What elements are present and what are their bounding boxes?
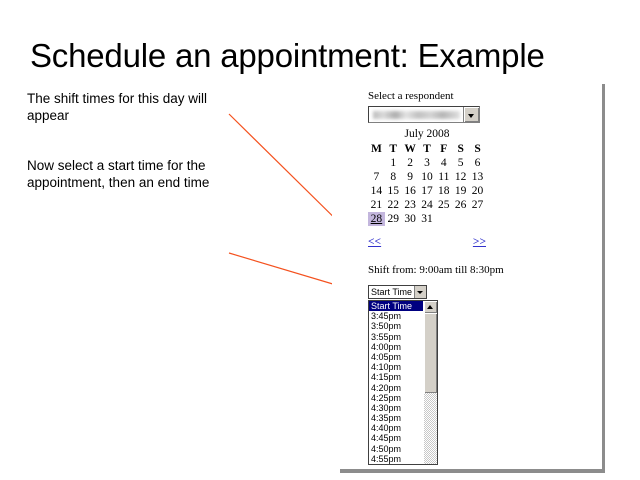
shift-hours-text: Shift from: 9:00am till 8:30pm	[368, 264, 504, 276]
start-time-option[interactable]: 4:30pm	[369, 403, 423, 413]
start-time-option[interactable]: 4:25pm	[369, 393, 423, 403]
calendar-day[interactable]: 2	[402, 156, 419, 170]
calendar-day-selected[interactable]: 28	[368, 212, 385, 226]
start-time-listbox[interactable]: Start Time3:45pm3:50pm3:55pm4:00pm4:05pm…	[368, 300, 438, 465]
calendar-week-row: 14151617181920	[368, 184, 486, 198]
calendar-body: 1234567891011121314151617181920212223242…	[368, 156, 486, 226]
start-time-option[interactable]: 3:50pm	[369, 321, 423, 331]
scrollbar-thumb[interactable]	[424, 313, 437, 393]
page-title: Schedule an appointment: Example	[30, 36, 610, 76]
calendar-day[interactable]: 23	[402, 198, 419, 212]
start-time-option[interactable]: 4:35pm	[369, 413, 423, 423]
calendar-weekday-header: T	[385, 142, 402, 156]
start-time-option[interactable]: 4:10pm	[369, 362, 423, 372]
start-time-option[interactable]: 3:45pm	[369, 311, 423, 321]
calendar-header-row: M T W T F S S	[368, 142, 486, 156]
start-time-combobox-value: Start Time	[369, 286, 414, 298]
calendar-week-row: 28293031	[368, 212, 486, 226]
calendar-weekday-header: T	[419, 142, 436, 156]
calendar-day[interactable]: 22	[385, 198, 402, 212]
calendar-day[interactable]: 6	[469, 156, 486, 170]
calendar-day[interactable]: 13	[469, 170, 486, 184]
calendar-day[interactable]: 20	[469, 184, 486, 198]
chevron-down-icon[interactable]	[414, 286, 426, 298]
calendar-weekday-header: W	[402, 142, 419, 156]
calendar-week-row: 78910111213	[368, 170, 486, 184]
calendar-day[interactable]: 17	[419, 184, 436, 198]
calendar-weekday-header: S	[452, 142, 469, 156]
calendar-day[interactable]: 14	[368, 184, 385, 198]
calendar-next-month-link[interactable]: >>	[473, 236, 486, 248]
calendar-widget: July 2008 M T W T F S S 1234567891011121…	[368, 128, 486, 226]
calendar-day[interactable]: 27	[469, 198, 486, 212]
start-time-option[interactable]: 4:05pm	[369, 352, 423, 362]
calendar-day[interactable]: 24	[419, 198, 436, 212]
calendar-day[interactable]: 16	[402, 184, 419, 198]
respondent-select[interactable]	[368, 106, 480, 123]
calendar-day[interactable]: 3	[419, 156, 436, 170]
start-time-option[interactable]: 4:45pm	[369, 433, 423, 443]
calendar-day[interactable]: 8	[385, 170, 402, 184]
respondent-select-value	[369, 107, 463, 122]
calendar-day[interactable]: 7	[368, 170, 385, 184]
calendar-grid: M T W T F S S 12345678910111213141516171…	[368, 142, 486, 226]
calendar-day-empty	[368, 156, 385, 170]
triangle-up-icon[interactable]	[424, 301, 437, 313]
start-time-listbox-scrollbar[interactable]	[423, 301, 437, 464]
calendar-day[interactable]: 9	[402, 170, 419, 184]
calendar-day[interactable]: 5	[452, 156, 469, 170]
calendar-week-row: 123456	[368, 156, 486, 170]
start-time-option-list[interactable]: Start Time3:45pm3:50pm3:55pm4:00pm4:05pm…	[369, 301, 423, 464]
start-time-option[interactable]: 4:40pm	[369, 423, 423, 433]
calendar-day-empty	[469, 212, 486, 226]
start-time-option[interactable]: 4:20pm	[369, 383, 423, 393]
start-time-option[interactable]: 4:55pm	[369, 454, 423, 464]
calendar-day[interactable]: 12	[452, 170, 469, 184]
calendar-month-label: July 2008	[368, 128, 486, 142]
start-time-option[interactable]: 4:50pm	[369, 444, 423, 454]
calendar-day[interactable]: 29	[385, 212, 402, 226]
calendar-day[interactable]: 10	[419, 170, 436, 184]
calendar-prev-month-link[interactable]: <<	[368, 236, 381, 248]
respondent-field-label: Select a respondent	[368, 90, 454, 102]
calendar-day[interactable]: 21	[368, 198, 385, 212]
calendar-day[interactable]: 19	[452, 184, 469, 198]
calendar-day[interactable]: 30	[402, 212, 419, 226]
calendar-day-empty	[452, 212, 469, 226]
calendar-day-empty	[435, 212, 452, 226]
annotation-callout-shift-times: The shift times for this day will appear	[27, 90, 242, 124]
calendar-day[interactable]: 18	[435, 184, 452, 198]
start-time-option[interactable]: 3:55pm	[369, 332, 423, 342]
calendar-weekday-header: S	[469, 142, 486, 156]
appointment-scheduler-panel: Select a respondent July 2008 M T W T F …	[332, 84, 602, 469]
calendar-day[interactable]: 25	[435, 198, 452, 212]
calendar-day[interactable]: 11	[435, 170, 452, 184]
calendar-weekday-header: F	[435, 142, 452, 156]
calendar-day[interactable]: 26	[452, 198, 469, 212]
calendar-week-row: 21222324252627	[368, 198, 486, 212]
start-time-option-selected[interactable]: Start Time	[369, 301, 423, 311]
calendar-day[interactable]: 15	[385, 184, 402, 198]
start-time-option[interactable]: 4:00pm	[369, 342, 423, 352]
calendar-day[interactable]: 4	[435, 156, 452, 170]
calendar-day[interactable]: 31	[419, 212, 436, 226]
calendar-navigation: << >>	[368, 236, 486, 248]
calendar-day[interactable]: 1	[385, 156, 402, 170]
calendar-weekday-header: M	[368, 142, 385, 156]
annotation-callout-select-start-time: Now select a start time for the appointm…	[27, 157, 242, 191]
start-time-option[interactable]: 4:15pm	[369, 372, 423, 382]
chevron-down-icon[interactable]	[463, 107, 479, 122]
start-time-combobox[interactable]: Start Time	[368, 285, 427, 299]
